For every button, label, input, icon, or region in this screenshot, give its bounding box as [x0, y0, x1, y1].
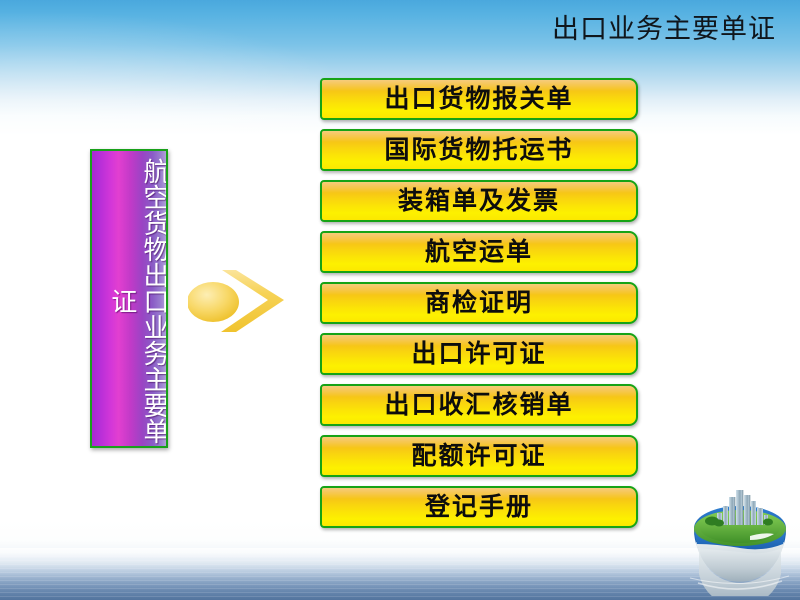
globe-city-icon	[688, 482, 792, 596]
document-label: 国际货物托运书	[384, 137, 573, 163]
document-label: 航空运单	[425, 239, 533, 265]
document-box[interactable]: 出口许可证	[320, 333, 638, 375]
document-label: 出口收汇核销单	[384, 392, 573, 418]
slide-title: 出口业务主要单证	[552, 14, 776, 46]
document-label: 出口许可证	[411, 341, 546, 367]
document-label: 登记手册	[425, 494, 533, 520]
document-label: 配额许可证	[411, 443, 546, 469]
document-label: 装箱单及发票	[398, 188, 560, 214]
chevron-arrow-icon	[188, 262, 296, 340]
document-box[interactable]: 配额许可证	[320, 435, 638, 477]
water-band	[0, 548, 800, 600]
document-label: 商检证明	[425, 290, 533, 316]
document-label: 出口货物报关单	[384, 86, 573, 112]
document-box[interactable]: 出口货物报关单	[320, 78, 638, 120]
document-box[interactable]: 装箱单及发票	[320, 180, 638, 222]
document-box[interactable]: 商检证明	[320, 282, 638, 324]
slide-canvas: 出口业务主要单证 航空货物出口业务主要单证 出口货物	[0, 0, 800, 600]
left-vertical-banner: 航空货物出口业务主要单证	[90, 149, 168, 448]
left-banner-label: 航空货物出口业务主要单证	[92, 153, 168, 448]
document-box[interactable]: 国际货物托运书	[320, 129, 638, 171]
document-box[interactable]: 出口收汇核销单	[320, 384, 638, 426]
document-list: 出口货物报关单 国际货物托运书 装箱单及发票 航空运单 商检证明 出口许可证 出…	[320, 78, 638, 537]
document-box[interactable]: 登记手册	[320, 486, 638, 528]
document-box[interactable]: 航空运单	[320, 231, 638, 273]
